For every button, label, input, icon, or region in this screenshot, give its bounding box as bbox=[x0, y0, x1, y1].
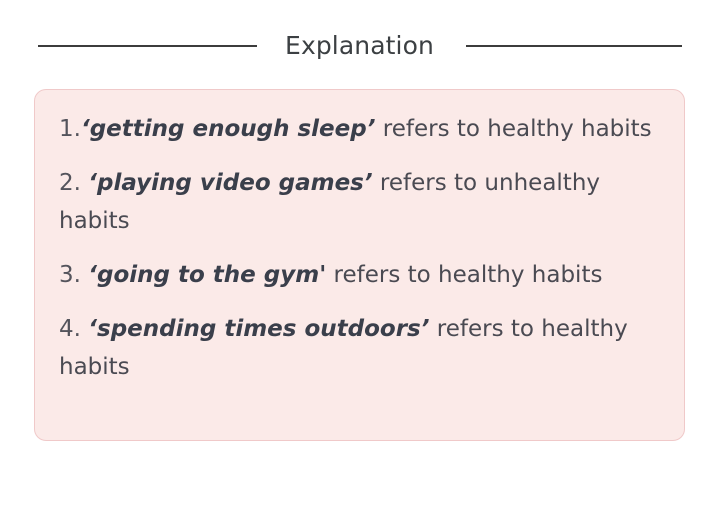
list-item-tail: refers to healthy habits bbox=[326, 262, 602, 288]
explanation-page: Explanation 1.‘getting enough sleep’ ref… bbox=[0, 0, 720, 509]
page-title: Explanation bbox=[285, 28, 434, 64]
list-item: 2. ‘playing video games’ refers to unhea… bbox=[59, 164, 660, 240]
list-item-number: 3. bbox=[59, 262, 88, 288]
list-item-phrase: ‘spending times outdoors’ bbox=[88, 316, 429, 342]
explanation-list: 1.‘getting enough sleep’ refers to healt… bbox=[59, 110, 660, 386]
list-item: 3. ‘going to the gym' refers to healthy … bbox=[59, 256, 660, 294]
list-item-phrase: ‘playing video games’ bbox=[88, 170, 372, 196]
list-item-phrase: ‘going to the gym' bbox=[88, 262, 326, 288]
explanation-section-header: Explanation bbox=[34, 28, 686, 64]
list-item-number: 1. bbox=[59, 116, 81, 142]
explanation-card: 1.‘getting enough sleep’ refers to healt… bbox=[34, 89, 685, 441]
divider-rule-right bbox=[466, 45, 682, 47]
list-item-number: 2. bbox=[59, 170, 88, 196]
list-item-tail: refers to healthy habits bbox=[375, 116, 651, 142]
list-item-phrase: ‘getting enough sleep’ bbox=[81, 116, 376, 142]
list-item: 1.‘getting enough sleep’ refers to healt… bbox=[59, 110, 660, 148]
list-item-number: 4. bbox=[59, 316, 88, 342]
divider-rule-left bbox=[38, 45, 257, 47]
list-item: 4. ‘spending times outdoors’ refers to h… bbox=[59, 310, 660, 386]
